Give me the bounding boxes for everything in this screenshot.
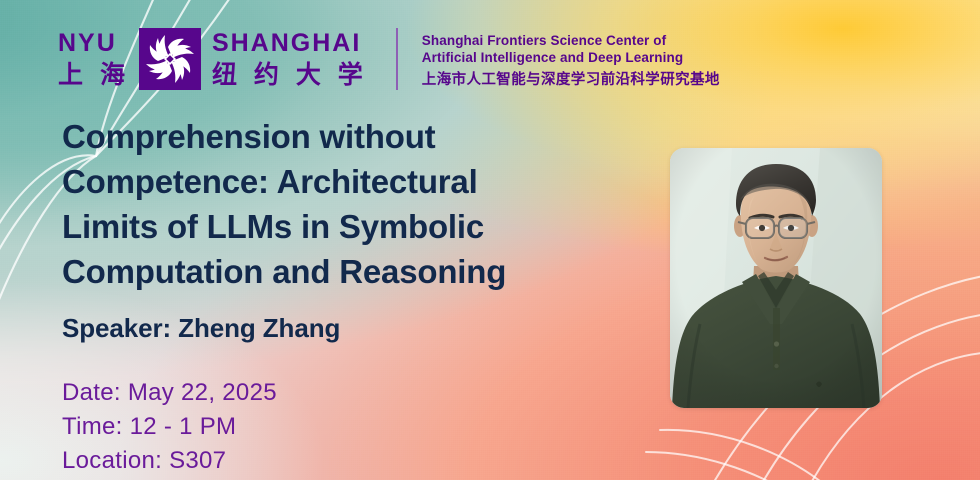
- center-name-chinese: 上海市人工智能与深度学习前沿科学研究基地: [422, 71, 720, 89]
- speaker-name: Speaker: Zheng Zhang: [62, 311, 340, 345]
- header-divider: [396, 28, 398, 90]
- center-name-english-line1: Shanghai Frontiers Science Center of: [422, 32, 720, 49]
- center-name-english-line2: Artificial Intelligence and Deep Learnin…: [422, 49, 720, 66]
- seminar-poster: NYU 上 海: [0, 0, 980, 480]
- nyu-logo-left-text: NYU 上 海: [58, 24, 130, 94]
- talk-title-line-2: Competence: Architectural: [62, 159, 662, 204]
- nyu-torch-emblem-icon: [139, 28, 201, 90]
- talk-title-line-4: Computation and Reasoning: [62, 249, 662, 294]
- event-details: Date: May 22, 2025 Time: 12 - 1 PM Locat…: [62, 376, 277, 478]
- event-date: Date: May 22, 2025: [62, 376, 277, 410]
- shanghai-wordmark-english: SHANGHAI: [212, 31, 361, 56]
- event-time: Time: 12 - 1 PM: [62, 410, 277, 444]
- nyu-logo-right-text: SHANGHAI 纽 约 大 学: [212, 24, 368, 94]
- speaker-portrait: [670, 148, 882, 408]
- talk-title: Comprehension without Competence: Archit…: [62, 114, 662, 294]
- nyu-shanghai-logo: NYU 上 海: [58, 22, 368, 96]
- nyu-wordmark-english: NYU: [58, 31, 117, 56]
- research-center-name: Shanghai Frontiers Science Center of Art…: [422, 23, 720, 95]
- talk-title-line-1: Comprehension without: [62, 114, 662, 159]
- shanghai-wordmark-chinese: 纽 约 大 学: [212, 63, 368, 88]
- header-logo-lockup: NYU 上 海: [58, 22, 720, 96]
- talk-title-line-3: Limits of LLMs in Symbolic: [62, 204, 662, 249]
- nyu-wordmark-chinese: 上 海: [58, 63, 130, 88]
- event-location: Location: S307: [62, 444, 277, 478]
